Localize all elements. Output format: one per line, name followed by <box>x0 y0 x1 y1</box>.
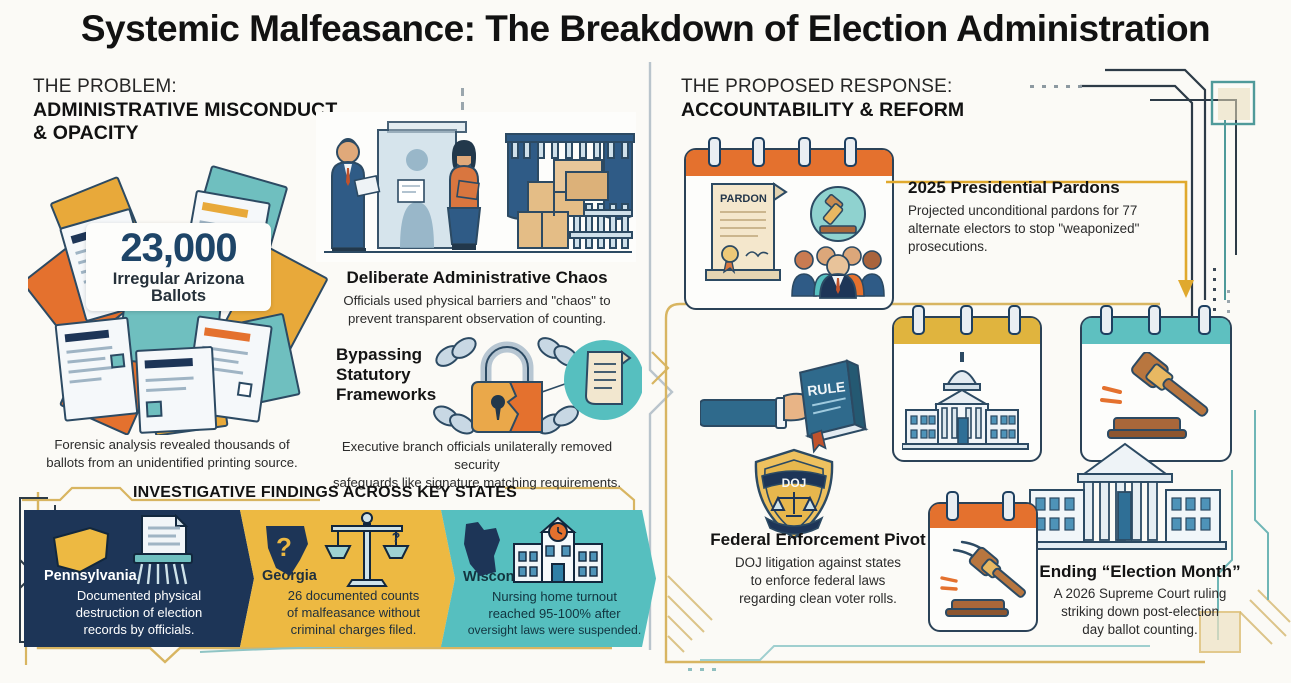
calendar-ring <box>844 137 857 167</box>
calendar-ring <box>752 137 765 167</box>
enforcement-body-line-3: regarding clean voter rolls. <box>672 590 964 608</box>
left-heading-line-1: ADMINISTRATIVE MISCONDUCT <box>33 99 337 122</box>
block-chaos-heading: Deliberate Administrative Chaos <box>322 268 632 288</box>
stat-number: 23,000 <box>120 229 236 268</box>
finding-georgia-body-line-3: criminal charges filed. <box>262 622 445 639</box>
stat-card: 23,000 Irregular Arizona Ballots <box>86 223 271 311</box>
finding-georgia-body-line-2: of malfeasance without <box>262 605 445 622</box>
right-column-header: THE PROPOSED RESPONSE: ACCOUNTABILITY & … <box>681 76 964 122</box>
findings-title: INVESTIGATIVE FINDINGS ACROSS KEY STATES <box>0 484 650 502</box>
stat-caption: Forensic analysis revealed thousands of … <box>22 436 322 472</box>
stat-label-line-1: Irregular Arizona <box>113 271 244 288</box>
supreme-court-building-icon <box>1022 440 1228 570</box>
georgia-map-question-icon: ? <box>260 522 316 580</box>
election-month-body-line-2: striking down post-election <box>1022 603 1258 621</box>
svg-text:DOJ: DOJ <box>782 476 807 490</box>
block-chaos-body-line-2: prevent transparent observation of count… <box>322 310 632 328</box>
scales-of-justice-icon: ? <box>324 512 410 590</box>
enforcement-body-line-2: to enforce federal laws <box>672 572 964 590</box>
svg-text:?: ? <box>392 529 401 545</box>
voting-booth-illustration <box>316 112 636 262</box>
block-chaos: Deliberate Administrative Chaos Official… <box>322 268 632 328</box>
stat-caption-line-1: Forensic analysis revealed thousands of <box>22 436 322 454</box>
right-kicker: THE PROPOSED RESPONSE: <box>681 76 964 99</box>
page-title: Systemic Malfeasance: The Breakdown of E… <box>0 8 1291 50</box>
election-month-body-line-3: day ballot counting. <box>1022 621 1258 639</box>
bypassing-body-line-1: Executive branch officials unilaterally … <box>318 438 636 474</box>
calendar-ring <box>912 305 925 335</box>
gavel-icon <box>1092 352 1220 452</box>
pardons-body-line-3: prosecutions. <box>908 238 1180 256</box>
calendar-ring <box>1008 305 1021 335</box>
capitol-calendar-card <box>892 316 1042 462</box>
capitol-building-icon <box>902 350 1032 454</box>
wisconsin-map-icon <box>456 520 506 578</box>
pardons-body-line-2: alternate electors to stop "weaponized" <box>908 220 1180 238</box>
block-chaos-body-line-1: Officials used physical barriers and "ch… <box>322 292 632 310</box>
enforcement-heading: Federal Enforcement Pivot <box>672 530 964 550</box>
stat-label-line-2: Ballots <box>151 288 206 305</box>
pardon-calendar-card: PARDON <box>684 148 894 310</box>
finding-pennsylvania-body-line-2: destruction of election <box>34 605 244 622</box>
stat-caption-line-2: ballots from an unidentified printing so… <box>22 454 322 472</box>
calendar-ring <box>946 491 959 521</box>
pennsylvania-map-icon <box>50 522 114 578</box>
calendar-ring <box>1198 305 1211 335</box>
pardons-heading: 2025 Presidential Pardons <box>908 178 1180 198</box>
right-heading: ACCOUNTABILITY & REFORM <box>681 99 964 122</box>
calendar-ring <box>1002 491 1015 521</box>
response-item-pardons: 2025 Presidential Pardons Projected unco… <box>908 178 1180 255</box>
left-kicker: THE PROBLEM: <box>33 76 337 99</box>
svg-text:PARDON: PARDON <box>720 193 767 205</box>
finding-pennsylvania-body-line-1: Documented physical <box>34 588 244 605</box>
election-month-heading: Ending “Election Month” <box>1022 562 1258 582</box>
infographic-canvas: Systemic Malfeasance: The Breakdown of E… <box>0 0 1291 683</box>
small-gavel-icon <box>936 534 1030 626</box>
calendar-ring <box>1100 305 1113 335</box>
calendar-ring <box>798 137 811 167</box>
calendar-ring <box>1148 305 1161 335</box>
finding-wisconsin-body-line-2: reached 95-100% after <box>463 606 646 623</box>
doj-badge-icon: DOJ <box>748 448 840 542</box>
pardons-body-line-1: Projected unconditional pardons for 77 <box>908 202 1180 220</box>
nursing-home-icon <box>512 514 604 586</box>
finding-wisconsin-body-line-1: Nursing home turnout <box>463 589 646 606</box>
finding-pennsylvania-body-line-3: records by officials. <box>34 622 244 639</box>
finding-wisconsin-body-line-3: oversight laws were suspended. <box>463 623 646 639</box>
response-item-election-month: Ending “Election Month” A 2026 Supreme C… <box>1022 562 1258 638</box>
election-month-body-line-1: A 2026 Supreme Court ruling <box>1022 585 1258 603</box>
response-item-enforcement: Federal Enforcement Pivot DOJ litigation… <box>672 530 964 607</box>
finding-georgia-body-line-1: 26 documented counts <box>262 588 445 605</box>
ballot-pile-illustration: 23,000 Irregular Arizona Ballots <box>28 135 328 435</box>
pardon-document-illustration: PARDON <box>686 176 888 304</box>
enforcement-body-line-1: DOJ litigation against states <box>672 554 964 572</box>
shredder-icon <box>126 514 198 586</box>
svg-text:?: ? <box>276 532 292 562</box>
calendar-ring <box>708 137 721 167</box>
calendar-ring <box>960 305 973 335</box>
broken-lock-chain-icon <box>432 336 642 440</box>
